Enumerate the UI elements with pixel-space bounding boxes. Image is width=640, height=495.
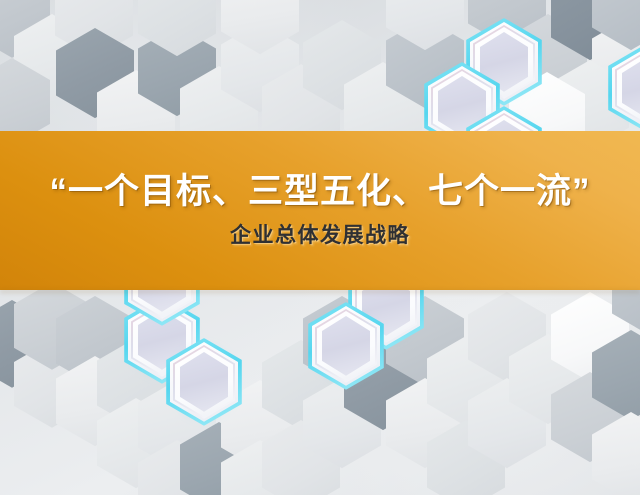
glowing-hexagon (308, 302, 384, 390)
glowing-hexagon (608, 44, 640, 132)
page-title: “一个目标、三型五化、七个一流” (49, 174, 590, 211)
presentation-slide: “一个目标、三型五化、七个一流” 企业总体发展战略 (0, 0, 640, 495)
glowing-hexagon (166, 338, 242, 426)
page-subtitle: 企业总体发展战略 (230, 224, 410, 247)
title-banner: “一个目标、三型五化、七个一流” 企业总体发展战略 (0, 131, 640, 290)
